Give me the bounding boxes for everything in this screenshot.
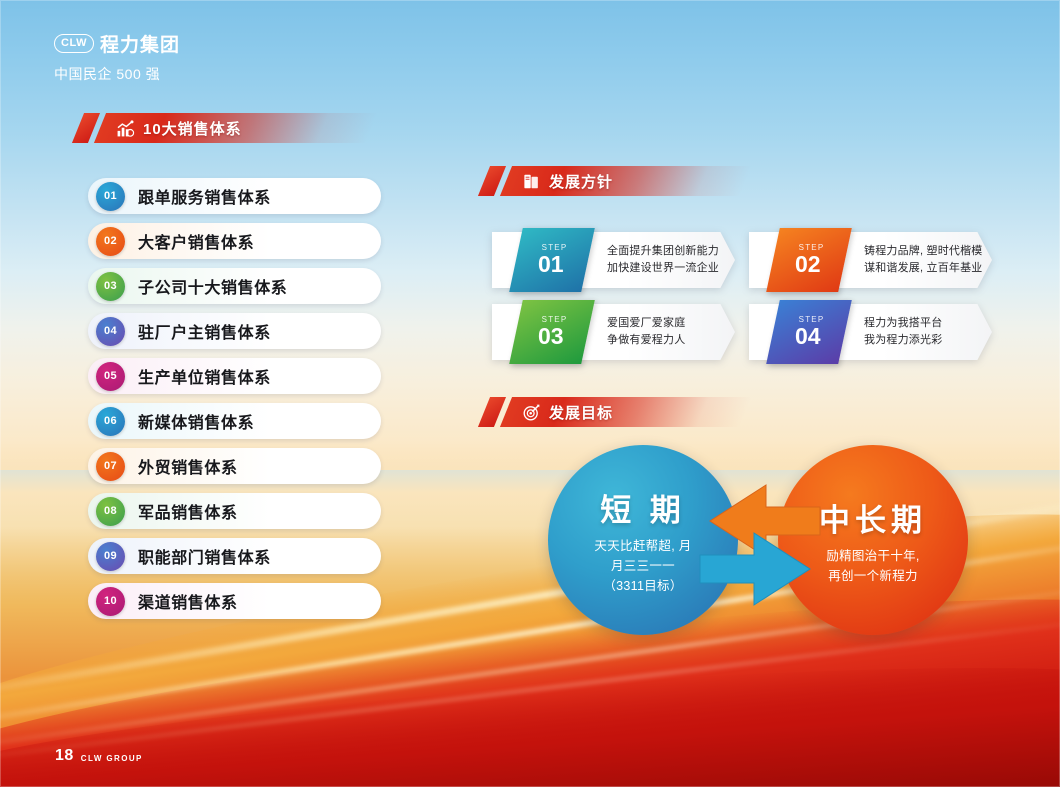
step-line: 争做有爱程力人	[607, 332, 685, 349]
sales-system-item[interactable]: 10渠道销售体系	[88, 583, 381, 619]
item-number-badge: 04	[96, 317, 125, 346]
brand-logo: CLW 程力集团 中国民企 500 强	[54, 30, 180, 84]
section-header-goals: 发展目标	[484, 397, 754, 427]
page-number: 18	[55, 747, 74, 765]
step-line: 我为程力添光彩	[864, 332, 942, 349]
item-label: 子公司十大销售体系	[138, 274, 287, 298]
step-row: STEP03爱国爱厂爱家庭争做有爱程力人STEP04程力为我搭平台我为程力添光彩	[492, 304, 992, 360]
step-number-tab: STEP04	[766, 300, 852, 364]
policy-step-card[interactable]: STEP02铸程力品牌, 塑时代楷模谋和谐发展, 立百年基业	[749, 232, 992, 288]
sales-system-item[interactable]: 03子公司十大销售体系	[88, 268, 381, 304]
policy-step-card[interactable]: STEP01全面提升集团创新能力加快建设世界一流企业	[492, 232, 735, 288]
item-label: 驻厂户主销售体系	[138, 319, 271, 343]
item-number-badge: 09	[96, 542, 125, 571]
item-number-badge: 03	[96, 272, 125, 301]
step-number-tab: STEP01	[509, 228, 595, 292]
item-number-badge: 01	[96, 182, 125, 211]
logo-subtitle: 中国民企 500 强	[54, 64, 180, 84]
step-text: 爱国爱厂爱家庭争做有爱程力人	[607, 315, 685, 349]
item-label: 军品销售体系	[138, 499, 238, 523]
step-text: 铸程力品牌, 塑时代楷模谋和谐发展, 立百年基业	[864, 243, 983, 277]
step-number: 02	[795, 252, 821, 277]
step-number: 03	[538, 324, 564, 349]
item-number-badge: 05	[96, 362, 125, 391]
step-line: 谋和谐发展, 立百年基业	[864, 260, 983, 277]
item-label: 渠道销售体系	[138, 589, 238, 613]
item-label: 职能部门销售体系	[138, 544, 271, 568]
section-title: 10大销售体系	[143, 118, 242, 139]
step-text: 程力为我搭平台我为程力添光彩	[864, 315, 942, 349]
step-line: 爱国爱厂爱家庭	[607, 315, 685, 332]
policy-steps: STEP01全面提升集团创新能力加快建设世界一流企业STEP02铸程力品牌, 塑…	[492, 232, 992, 376]
sales-system-item[interactable]: 02大客户销售体系	[88, 223, 381, 259]
step-line: 铸程力品牌, 塑时代楷模	[864, 243, 983, 260]
step-line: 加快建设世界一流企业	[607, 260, 719, 277]
item-number-badge: 02	[96, 227, 125, 256]
target-icon	[522, 403, 541, 422]
item-label: 大客户销售体系	[138, 229, 254, 253]
company-name: 程力集团	[100, 30, 180, 57]
sales-system-item[interactable]: 09职能部门销售体系	[88, 538, 381, 574]
step-text: 全面提升集团创新能力加快建设世界一流企业	[607, 243, 719, 277]
item-label: 外贸销售体系	[138, 454, 238, 478]
policy-step-card[interactable]: STEP04程力为我搭平台我为程力添光彩	[749, 304, 992, 360]
step-number: 04	[795, 324, 821, 349]
book-icon	[522, 172, 541, 191]
section-header-policy: 发展方针	[484, 166, 754, 196]
sales-system-item[interactable]: 07外贸销售体系	[88, 448, 381, 484]
sales-system-item[interactable]: 08军品销售体系	[88, 493, 381, 529]
goal-title: 短 期	[600, 485, 686, 530]
section-header-sales-systems: 10大销售体系	[78, 113, 378, 143]
goal-line: 再创一个新程力	[826, 566, 919, 586]
exchange-arrows-icon	[676, 473, 840, 613]
page-footer: 18 CLW GROUP	[55, 747, 143, 765]
logo-row: CLW 程力集团	[54, 30, 180, 57]
sales-system-item[interactable]: 01跟单服务销售体系	[88, 178, 381, 214]
chart-growth-icon	[116, 119, 135, 138]
section-title: 发展方针	[549, 171, 613, 192]
step-number-tab: STEP02	[766, 228, 852, 292]
sales-system-item[interactable]: 05生产单位销售体系	[88, 358, 381, 394]
item-number-badge: 10	[96, 587, 125, 616]
step-line: 全面提升集团创新能力	[607, 243, 719, 260]
step-row: STEP01全面提升集团创新能力加快建设世界一流企业STEP02铸程力品牌, 塑…	[492, 232, 992, 288]
sales-systems-list: 01跟单服务销售体系02大客户销售体系03子公司十大销售体系04驻厂户主销售体系…	[88, 178, 381, 628]
item-number-badge: 08	[96, 497, 125, 526]
step-number: 01	[538, 252, 564, 277]
item-label: 跟单服务销售体系	[138, 184, 271, 208]
step-line: 程力为我搭平台	[864, 315, 942, 332]
sales-system-item[interactable]: 04驻厂户主销售体系	[88, 313, 381, 349]
goal-line: 励精图治干十年,	[826, 546, 919, 566]
step-number-tab: STEP03	[509, 300, 595, 364]
goal-circles: 短 期 天天比赶帮超, 月 月三三一一 （3311目标） 中长期 励精图治干十年…	[548, 445, 968, 645]
item-label: 新媒体销售体系	[138, 409, 254, 433]
item-number-badge: 07	[96, 452, 125, 481]
footer-brand: CLW GROUP	[81, 754, 143, 765]
section-title: 发展目标	[549, 402, 613, 423]
item-number-badge: 06	[96, 407, 125, 436]
item-label: 生产单位销售体系	[138, 364, 271, 388]
clw-mark-icon: CLW	[54, 34, 94, 53]
policy-step-card[interactable]: STEP03爱国爱厂爱家庭争做有爱程力人	[492, 304, 735, 360]
sales-system-item[interactable]: 06新媒体销售体系	[88, 403, 381, 439]
